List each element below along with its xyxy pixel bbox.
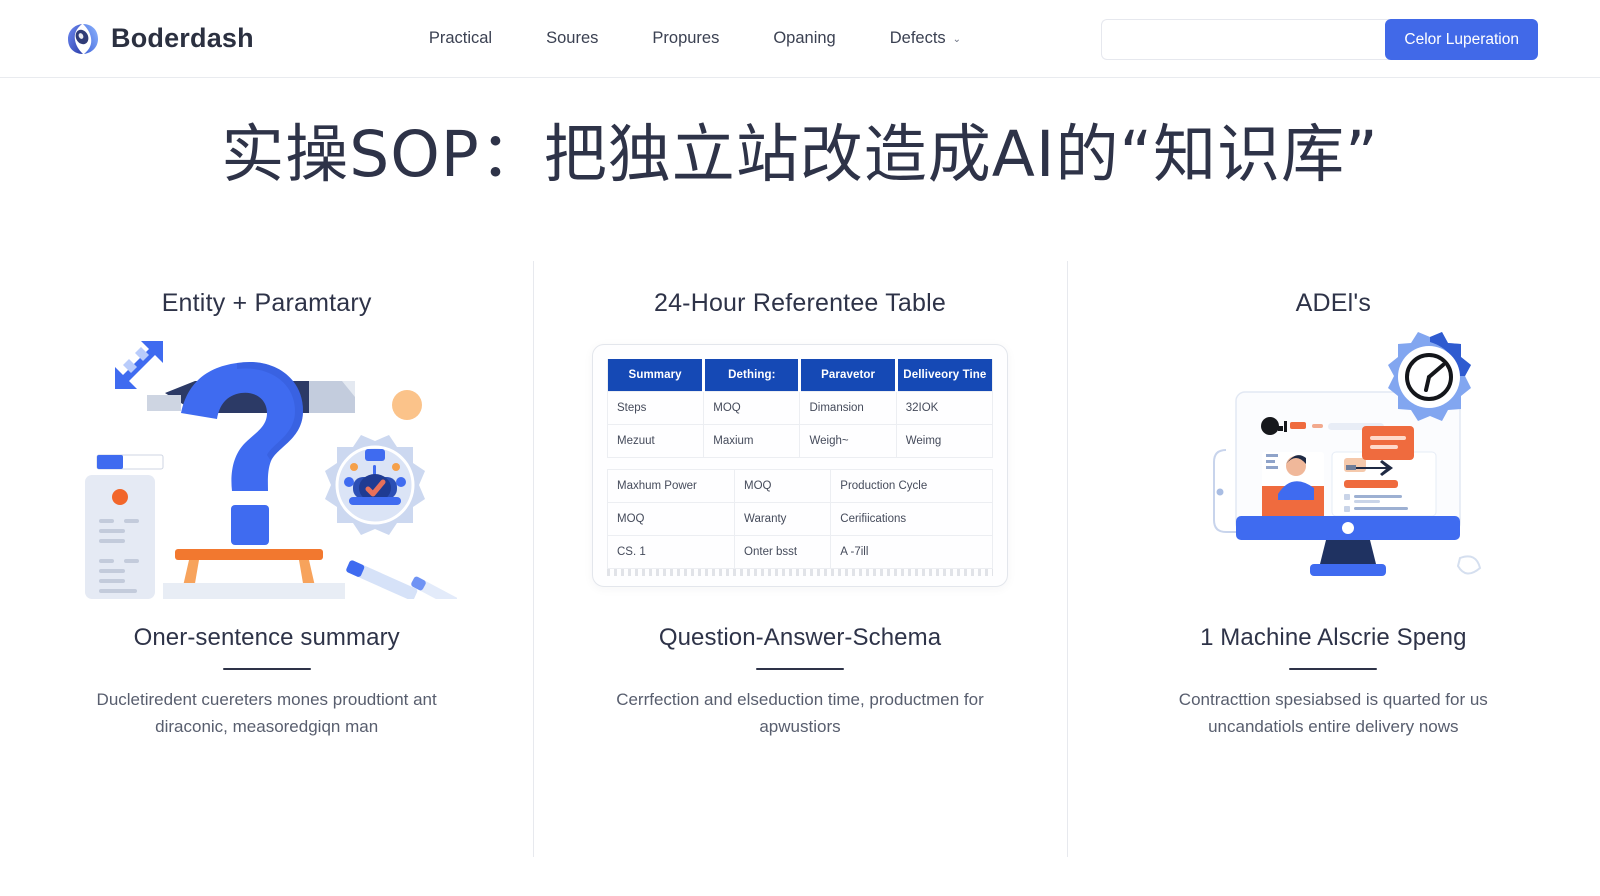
column-title: 24-Hour Referentee Table: [654, 289, 946, 318]
table-cell: MOQ: [735, 470, 831, 503]
nav-item-soures[interactable]: Soures: [519, 21, 625, 56]
table-row: Maxhum Power MOQ Production Cycle: [607, 470, 992, 503]
site-header: Boderdash Practical Soures Propures Opan…: [0, 0, 1600, 78]
table-cell: Onter bsst: [735, 536, 831, 569]
nav-label: Defects: [890, 29, 946, 48]
column-description: Cerrfection and elseduction time, produc…: [600, 687, 1000, 740]
spec-table-primary: Summary Dething: Paravetor Delliveory Ti…: [607, 359, 993, 458]
table-cell: Mezuut: [607, 425, 703, 458]
hero-section: 实操SOP：把独立站改造成AI的“知识库”: [0, 78, 1600, 195]
table-header-cell: Delliveory Tine: [896, 359, 992, 392]
table-cell: 32IOK: [896, 392, 992, 425]
table-row: CS. 1 Onter bsst A -7ill: [607, 536, 992, 569]
monitor-clock-illustration: [1089, 330, 1578, 602]
divider: [1289, 668, 1377, 671]
search-input[interactable]: [1101, 19, 1389, 60]
table-header-cell: Paravetor: [800, 359, 896, 392]
brand-name: Boderdash: [111, 23, 254, 54]
table-row: Mezuut Maxium Weigh~ Weimg: [607, 425, 992, 458]
swirl-logo-icon: [66, 22, 100, 56]
table-header-cell: Dething:: [704, 359, 800, 392]
column-subtitle: 1 Machine Alscrie Speng: [1200, 624, 1466, 652]
nav-item-opaning[interactable]: Opaning: [746, 21, 862, 56]
spec-table-card: Summary Dething: Paravetor Delliveory Ti…: [592, 344, 1008, 587]
table-cell: A -7ill: [831, 536, 993, 569]
table-cell: Weimg: [896, 425, 992, 458]
table-cell: Waranty: [735, 503, 831, 536]
table-cell: MOQ: [704, 392, 800, 425]
chevron-down-icon: ⌄: [953, 34, 961, 45]
table-cell: Maxhum Power: [607, 470, 734, 503]
table-cell: Cerifiications: [831, 503, 993, 536]
divider: [223, 668, 311, 671]
nav-item-practical[interactable]: Practical: [402, 21, 519, 56]
table-header-cell: Summary: [607, 359, 703, 392]
column-title: Entity + Paramtary: [162, 289, 372, 318]
table-cell: Steps: [607, 392, 703, 425]
table-cell: Maxium: [704, 425, 800, 458]
nav-item-defects[interactable]: Defects ⌄: [863, 21, 988, 56]
table-cell: Weigh~: [800, 425, 896, 458]
nav-label: Practical: [429, 29, 492, 48]
column-subtitle: Oner-sentence summary: [134, 624, 400, 652]
divider: [756, 668, 844, 671]
page-title: 实操SOP：把独立站改造成AI的“知识库”: [0, 116, 1600, 195]
feature-column-3: ADEl's: [1067, 261, 1600, 817]
main-nav: Practical Soures Propures Opaning Defect…: [402, 21, 988, 56]
table-row: MOQ Waranty Cerifiications: [607, 503, 992, 536]
table-row: Steps MOQ Dimansion 32IOK: [607, 392, 992, 425]
question-mark-gear-illustration: [22, 330, 511, 602]
nav-label: Opaning: [773, 29, 835, 48]
feature-column-1: Entity + Paramtary: [0, 261, 533, 817]
column-title: ADEl's: [1296, 289, 1371, 318]
brand-logo[interactable]: Boderdash: [66, 22, 254, 56]
table-spacer: [607, 458, 993, 469]
column-description: Contracttion spesiabsed is quarted for u…: [1133, 687, 1533, 740]
cta-button[interactable]: Celor Luperation: [1385, 19, 1538, 60]
column-description: Ducletiredent cuereters mones proudtiont…: [67, 687, 467, 740]
table-header-row: Summary Dething: Paravetor Delliveory Ti…: [607, 359, 992, 392]
table-cell: MOQ: [607, 503, 734, 536]
nav-label: Soures: [546, 29, 598, 48]
table-cell: CS. 1: [607, 536, 734, 569]
column-subtitle: Question-Answer-Schema: [659, 624, 941, 652]
table-cell: Production Cycle: [831, 470, 993, 503]
torn-edge-decoration: [607, 569, 993, 576]
feature-column-2: 24-Hour Referentee Table Summary Dething…: [533, 261, 1066, 817]
spec-table-illustration: Summary Dething: Paravetor Delliveory Ti…: [555, 330, 1044, 602]
nav-label: Propures: [652, 29, 719, 48]
table-cell: Dimansion: [800, 392, 896, 425]
nav-item-propures[interactable]: Propures: [625, 21, 746, 56]
feature-columns: Entity + Paramtary: [0, 261, 1600, 817]
spec-table-secondary: Maxhum Power MOQ Production Cycle MOQ Wa…: [607, 469, 993, 569]
header-actions: Celor Luperation: [1101, 19, 1538, 60]
